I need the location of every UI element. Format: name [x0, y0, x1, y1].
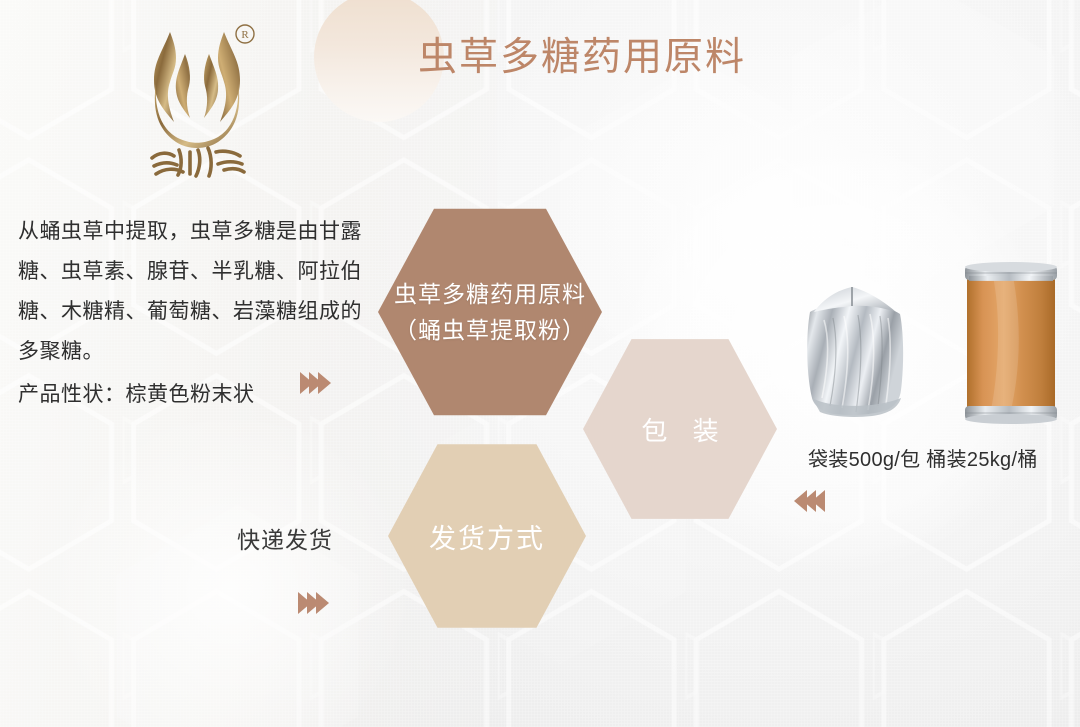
- fiber-drum-image: [963, 258, 1059, 428]
- packaging-spec-text: 袋装500g/包 桶装25kg/桶: [808, 443, 1038, 472]
- description-paragraph: 从蛹虫草中提取，虫草多糖是由甘露糖、虫草素、腺苷、半乳糖、阿拉伯糖、木糖精、葡萄…: [18, 212, 378, 372]
- hexagon-main-line1: 虫草多糖药用原料: [394, 276, 586, 312]
- shipping-method-text: 快递发货: [237, 521, 333, 555]
- hexagon-packaging-label: 包 装: [632, 411, 727, 448]
- flame-emblem-logo-icon: R: [132, 18, 262, 178]
- chevron-right-triple-icon-shipping: [298, 592, 325, 614]
- foil-pouch-image: [800, 282, 912, 418]
- hexagon-main-line2: （蛹虫草提取粉）: [394, 312, 586, 348]
- page-title: 虫草多糖药用原料: [418, 26, 746, 82]
- chevron-right-triple-icon: [300, 372, 327, 394]
- svg-text:R: R: [241, 29, 249, 41]
- brand-logo: R: [132, 18, 262, 178]
- product-infographic-page: R 虫草多糖药用原料 从蛹虫草中提取，虫草多糖是由甘露糖、虫草素、腺苷、半乳糖、…: [0, 0, 1080, 727]
- chevron-left-triple-icon: [798, 490, 825, 512]
- hexagon-shipping-label: 发货方式: [429, 517, 545, 556]
